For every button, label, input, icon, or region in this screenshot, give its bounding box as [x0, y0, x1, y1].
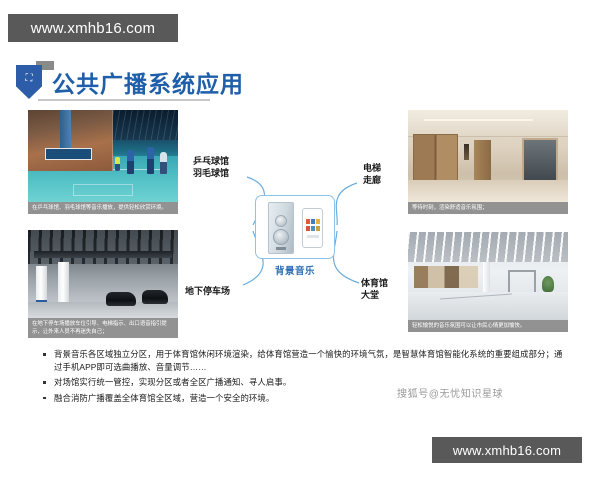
card-elevator-corridor: 等待时刻，渲染舒适音乐氛围； — [408, 110, 568, 214]
garage-floor — [28, 302, 178, 318]
node-elevator: 电梯 走廊 — [363, 162, 381, 186]
watermark-top: www.xmhb16.com — [8, 14, 178, 42]
node-line: 地下停车场 — [185, 285, 230, 297]
player-figure — [160, 152, 167, 174]
lobby-floor — [408, 180, 568, 202]
card-caption: 等待时刻，渲染舒适音乐氛围； — [408, 202, 568, 214]
player-figure — [147, 147, 154, 174]
title-underline — [38, 99, 210, 101]
card-caption: 在乒乓球馆、羽毛球馆等音乐播放，提供轻松欣赏环境。 — [28, 202, 178, 214]
node-line: 体育馆 — [361, 277, 388, 289]
app-tile-row — [306, 219, 320, 224]
wall-speaker-icon — [268, 202, 294, 254]
bullet-item: 背景音乐各区域独立分区，用于体育馆休闲环境渲染，给体育馆营造一个愉快的环境气氛，… — [40, 348, 568, 373]
photo-underground-parking — [28, 230, 178, 318]
node-line: 大堂 — [361, 289, 388, 301]
card-caption: 轻松愉悦的音乐氛围可以让市民心情更加愉快。 — [408, 320, 568, 332]
smartphone-app-icon — [302, 208, 323, 248]
ping-pong-table — [45, 148, 92, 160]
player-figure — [115, 157, 120, 171]
parked-car — [106, 292, 136, 306]
potted-plant — [542, 276, 554, 292]
page-title-row: ⛶ 公共广播系统应用 — [16, 62, 244, 102]
watermark-bottom: www.xmhb16.com — [432, 437, 582, 463]
app-progress-bar — [307, 235, 319, 238]
lobby-pillar — [483, 262, 490, 294]
entry-gate — [508, 270, 536, 294]
garage-ceiling — [28, 230, 178, 264]
sohu-watermark: 搜狐号@无忧知识星球 — [397, 385, 503, 400]
garage-column — [36, 266, 47, 306]
node-line: 羽毛球馆 — [193, 167, 229, 179]
speaker-tweeter — [275, 215, 287, 227]
node-table-tennis: 乒乓球馆 羽毛球馆 — [193, 155, 229, 179]
photo-table-tennis-badminton-hall — [28, 110, 178, 202]
background-music-diagram: 背景音乐 乒乓球馆 羽毛球馆 电梯 走廊 地下停车场 体育馆 大堂 — [185, 135, 420, 320]
lobby-ceiling — [408, 110, 568, 137]
page-title: 公共广播系统应用 — [52, 65, 244, 99]
elevator-door — [474, 140, 492, 180]
wall-sconce — [464, 144, 469, 160]
wall-panel — [414, 266, 478, 288]
node-parking: 地下停车场 — [185, 285, 230, 297]
background-music-device-box — [255, 195, 335, 259]
projector-glyph: ⛶ — [21, 73, 37, 85]
lobby-floor — [408, 292, 568, 320]
parked-car — [142, 290, 168, 304]
slide-root: www.xmhb16.com www.xmhb16.com ⛶ 公共广播系统应用… — [0, 0, 600, 480]
node-line: 乒乓球馆 — [193, 155, 229, 167]
photo-stadium-lobby — [408, 232, 568, 320]
glass-entry-door — [522, 138, 558, 184]
card-underground-parking: 在地下停车场播放车位引导、电梯指示、出口语音指引提示，让外来人员不再迷失自己； — [28, 230, 178, 338]
node-line: 电梯 — [363, 162, 381, 174]
card-table-tennis-badminton-hall: 在乒乓球馆、羽毛球馆等音乐播放，提供轻松欣赏环境。 — [28, 110, 178, 214]
app-tile-row — [306, 226, 320, 231]
hub-label: 背景音乐 — [247, 263, 343, 277]
node-stadium: 体育馆 大堂 — [361, 277, 388, 301]
ceiling-duct — [34, 251, 172, 258]
broadcast-shield-icon: ⛶ — [16, 65, 42, 99]
speaker-brand-badge — [276, 247, 286, 250]
photo-elevator-corridor — [408, 110, 568, 202]
node-line: 走廊 — [363, 174, 381, 186]
phone-screen — [305, 214, 321, 242]
connector-elevator — [336, 183, 357, 225]
table-tennis-inset — [28, 110, 113, 171]
lobby-ceiling-slats — [408, 232, 568, 262]
card-stadium-lobby: 轻松愉悦的音乐氛围可以让市民心情更加愉快。 — [408, 232, 568, 332]
speaker-woofer — [273, 229, 289, 245]
player-figure — [127, 150, 134, 174]
card-caption: 在地下停车场播放车位引导、电梯指示、出口语音指引提示，让外来人员不再迷失自己； — [28, 318, 178, 338]
